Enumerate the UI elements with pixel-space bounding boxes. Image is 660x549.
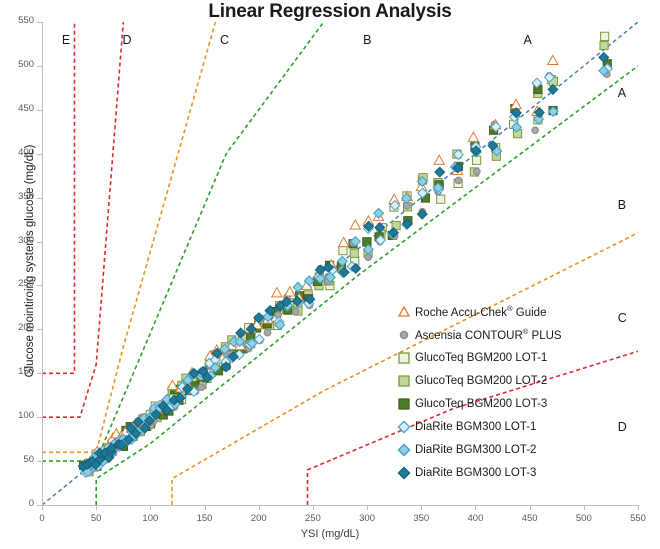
y-axis-tick-label: 250: [2, 278, 34, 289]
point-glucoteq-bgm200-lot-1: [339, 247, 347, 255]
diamond-icon: [396, 465, 412, 481]
point-ascensia-contour-plus: [532, 127, 539, 134]
x-axis-tick-label: 400: [455, 513, 495, 524]
y-axis-tick-label: 500: [2, 59, 34, 70]
point-roche-accu-chek-guide: [434, 155, 444, 164]
x-axis-title: YSI (mg/dL): [0, 528, 660, 540]
zone-label-e: E: [62, 33, 70, 47]
x-axis-line: [42, 505, 638, 506]
y-axis-tick-label: 450: [2, 103, 34, 114]
point-glucoteq-bgm200-lot-1: [601, 32, 609, 40]
point-glucoteq-bgm200-lot-2: [350, 249, 358, 257]
x-axis-tick-label: 200: [239, 513, 279, 524]
diamond-icon: [396, 442, 412, 458]
legend-item-label: GlucoTeq BGM200 LOT-2: [415, 375, 547, 387]
square-icon: [396, 373, 412, 389]
y-axis-tick-label: 350: [2, 191, 34, 202]
x-axis-tick-label: 550: [618, 513, 658, 524]
zone-label-a: A: [618, 86, 626, 100]
point-glucoteq-bgm200-lot-3: [363, 238, 371, 246]
point-ascensia-contour-plus: [292, 308, 299, 315]
square-icon: [396, 396, 412, 412]
x-axis-tick-label: 100: [130, 513, 170, 524]
y-axis-line: [42, 22, 43, 505]
point-ascensia-contour-plus: [455, 177, 462, 184]
legend-item-label: Roche Accu-Chek® Guide: [415, 304, 546, 319]
point-roche-accu-chek-guide: [548, 55, 558, 64]
point-roche-accu-chek-guide: [339, 237, 349, 246]
zone-label-d: D: [123, 33, 132, 47]
x-axis-tick-label: 0: [22, 513, 62, 524]
legend-item[interactable]: GlucoTeq BGM200 LOT-1: [396, 346, 626, 369]
y-axis-tick-label: 0: [2, 498, 34, 509]
legend-item-label: DiaRite BGM300 LOT-1: [415, 421, 536, 433]
x-axis-tick-label: 150: [185, 513, 225, 524]
diamond-icon: [396, 419, 412, 435]
x-axis-tick-label: 450: [510, 513, 550, 524]
legend-item[interactable]: GlucoTeq BGM200 LOT-3: [396, 392, 626, 415]
y-axis-tick-label: 300: [2, 235, 34, 246]
x-axis-tick-label: 300: [347, 513, 387, 524]
square-icon: [396, 350, 412, 366]
x-axis-tick-label: 250: [293, 513, 333, 524]
y-axis-tick-label: 200: [2, 322, 34, 333]
point-ascensia-contour-plus: [264, 329, 271, 336]
zone-label-a: A: [523, 33, 531, 47]
legend-item[interactable]: GlucoTeq BGM200 LOT-2: [396, 369, 626, 392]
zone-label-c: C: [220, 33, 229, 47]
x-axis-tick-label: 500: [564, 513, 604, 524]
y-axis-tick-label: 50: [2, 454, 34, 465]
point-glucoteq-bgm200-lot-2: [600, 41, 608, 49]
chart-root: Linear Regression Analysis Glucose moint…: [0, 0, 660, 549]
zone-label-b: B: [363, 33, 371, 47]
point-roche-accu-chek-guide: [350, 220, 360, 229]
zone-label-b: B: [618, 198, 626, 212]
point-ascensia-contour-plus: [198, 384, 205, 391]
chart-legend: Roche Accu-Chek® GuideAscensia CONTOUR® …: [396, 300, 626, 484]
y-axis-tick-label: 150: [2, 366, 34, 377]
legend-item[interactable]: Roche Accu-Chek® Guide: [396, 300, 626, 323]
chart-title: Linear Regression Analysis: [0, 1, 660, 23]
legend-item[interactable]: DiaRite BGM300 LOT-2: [396, 438, 626, 461]
x-axis-tick-label: 50: [76, 513, 116, 524]
point-roche-accu-chek-guide: [272, 288, 282, 297]
legend-item-label: GlucoTeq BGM200 LOT-1: [415, 352, 547, 364]
x-axis-tick: [638, 505, 639, 510]
y-axis-tick-label: 550: [2, 15, 34, 26]
point-roche-accu-chek-guide: [468, 132, 478, 141]
circle-icon: [396, 327, 412, 343]
legend-item-label: DiaRite BGM300 LOT-2: [415, 444, 536, 456]
triangle-icon: [396, 304, 412, 320]
legend-item-label: GlucoTeq BGM200 LOT-3: [415, 398, 547, 410]
point-ascensia-contour-plus: [473, 168, 480, 175]
legend-item[interactable]: Ascensia CONTOUR® PLUS: [396, 323, 626, 346]
point-diarite-bgm300-lot-3: [435, 167, 445, 177]
point-glucoteq-bgm200-lot-1: [437, 195, 445, 203]
legend-item-label: DiaRite BGM300 LOT-3: [415, 467, 536, 479]
y-axis-tick-label: 400: [2, 147, 34, 158]
legend-item-label: Ascensia CONTOUR® PLUS: [415, 327, 562, 342]
x-axis-tick-label: 350: [401, 513, 441, 524]
point-diarite-bgm300-lot-2: [293, 282, 303, 292]
legend-item[interactable]: DiaRite BGM300 LOT-3: [396, 461, 626, 484]
y-axis-tick-label: 100: [2, 410, 34, 421]
legend-item[interactable]: DiaRite BGM300 LOT-1: [396, 415, 626, 438]
